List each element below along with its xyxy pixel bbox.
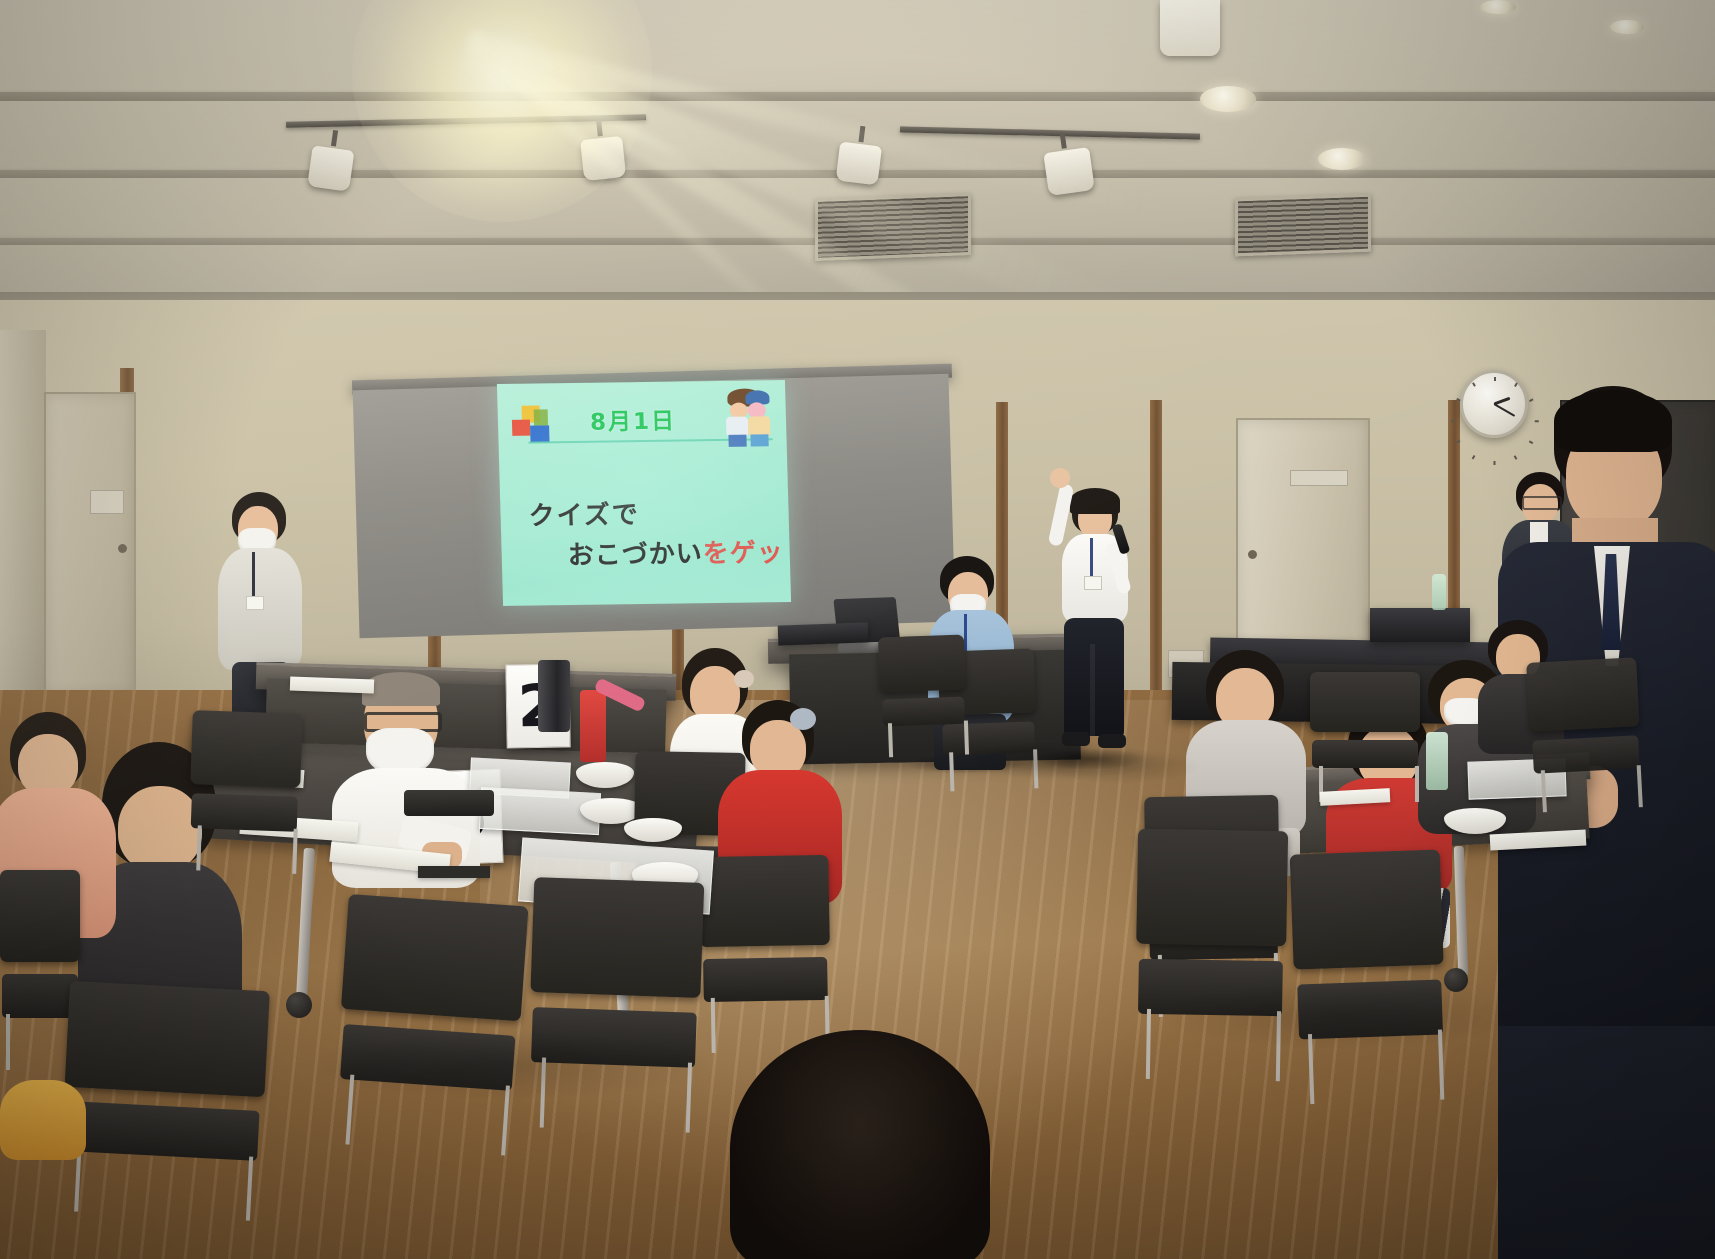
ceiling-downlight-2 (1318, 148, 1366, 170)
person-foreground-centre (730, 1030, 990, 1259)
table-left-caster-1 (286, 992, 312, 1018)
shadow-right-tables (1150, 980, 1530, 1050)
chair-right-rear[interactable] (1310, 672, 1420, 802)
track-spotlight-3[interactable] (835, 132, 884, 193)
red-drink-bottle[interactable] (580, 690, 606, 762)
ceiling-beam-1 (0, 92, 1715, 101)
wood-trim-5 (1150, 400, 1162, 690)
chair-foreground-left-2[interactable] (58, 981, 270, 1221)
wall-pillar-left (0, 330, 46, 730)
chair-empty-left-1[interactable] (187, 710, 303, 874)
track-spotlight-1[interactable] (306, 135, 356, 198)
water-bottle-right-table[interactable] (1426, 732, 1448, 790)
suit-trousers (1498, 1026, 1715, 1259)
chair-child-red-shirt[interactable] (698, 855, 831, 1053)
slide-date: 8月1日 (589, 402, 676, 437)
slide-text-line-2-main: おこづかい (567, 539, 703, 571)
chair-empty-back-1[interactable] (878, 635, 968, 758)
door-left[interactable] (44, 392, 136, 696)
back-amplifier (1370, 608, 1470, 642)
track-spotlight-4[interactable] (1042, 137, 1096, 205)
av-mixer-unit[interactable] (778, 622, 869, 645)
presenter-raised-hand (1050, 468, 1070, 488)
cartoon-children-illustration (715, 386, 781, 453)
wall-switch-plate[interactable] (90, 490, 124, 514)
slide-text-line-2-accent: をゲット！ (702, 537, 791, 569)
chair-empty-right-2[interactable] (1526, 657, 1644, 813)
ceiling-downlight-4 (1480, 0, 1516, 14)
projected-slide: 8月1日 クイズで おこづかいをゲット！ (497, 380, 791, 606)
pen-on-table[interactable] (418, 866, 490, 878)
chair-child-red-striped[interactable] (1290, 849, 1449, 1104)
worksheet-4 (290, 677, 374, 694)
ceiling-air-vent-left (815, 193, 971, 261)
slide-text-line-1: クイズで (528, 494, 640, 533)
ceiling-downlight-5 (1610, 20, 1644, 34)
hair-clip (790, 708, 816, 730)
tablet-device[interactable] (404, 790, 494, 816)
track-spotlight-2[interactable] (579, 126, 627, 188)
slide-text-line-2: おこづかいをゲット！ (567, 531, 791, 572)
yellow-bag (0, 1080, 86, 1160)
shadow-presenter (1040, 748, 1200, 784)
ceiling-air-vent-right (1235, 194, 1371, 257)
presenter-with-microphone (1042, 476, 1150, 766)
photo-scene: 8月1日 クイズで おこづかいをゲット！ (0, 0, 1715, 1259)
water-bottle-back[interactable] (1432, 574, 1446, 610)
ceiling-panel-row-1 (0, 0, 1715, 96)
hair-tie (734, 670, 754, 688)
track-spotlight-5[interactable] (1160, 0, 1220, 56)
presenter-raised-arm (1048, 483, 1075, 547)
door-sign-plate (1290, 470, 1348, 486)
ceiling-downlight-1 (1200, 86, 1256, 112)
shadow-left-tables (300, 1030, 720, 1100)
chair-empty-centre-2[interactable] (331, 894, 528, 1156)
thermos-flask[interactable] (538, 660, 570, 732)
